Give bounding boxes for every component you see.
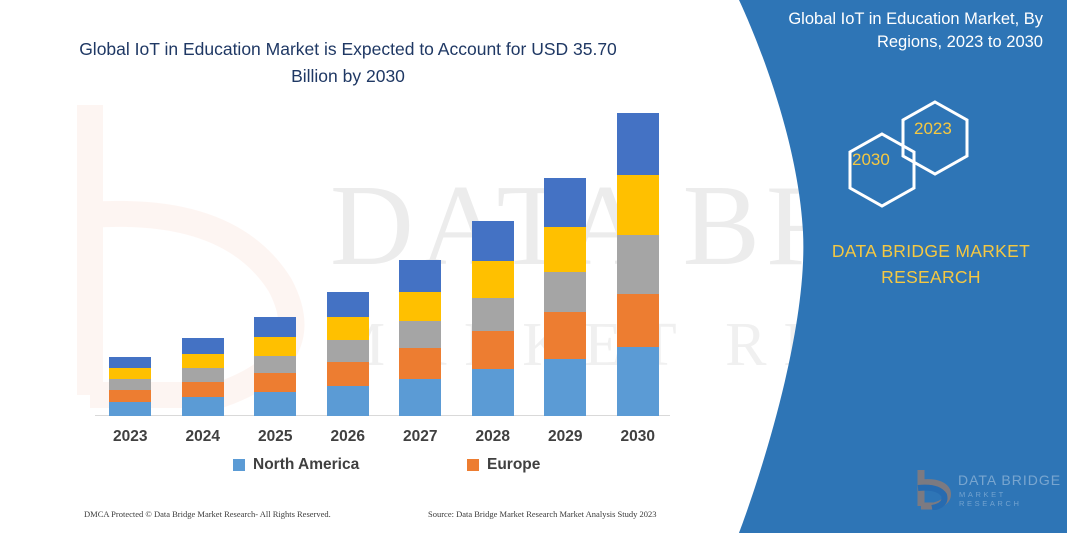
bar-segment <box>399 321 441 348</box>
legend-label: North America <box>253 456 359 474</box>
hexagon-label-end-year: 2023 <box>914 119 952 139</box>
bar-segment <box>544 227 586 271</box>
bar-segment <box>182 338 224 354</box>
bar-segment <box>182 368 224 382</box>
brand-logo: DATA BRIDGE MARKET RESEARCH <box>912 466 1062 514</box>
x-axis-label-2025: 2025 <box>240 428 310 446</box>
bar-2023 <box>109 357 151 416</box>
legend-item-north-america: North America <box>233 456 359 474</box>
legend-swatch <box>467 459 479 471</box>
bar-segment <box>399 379 441 416</box>
bar-segment <box>109 402 151 416</box>
bar-segment <box>182 354 224 368</box>
bar-segment <box>327 317 369 340</box>
brand-name: DATA BRIDGE MARKET RESEARCH <box>800 238 1062 290</box>
x-axis-label-2023: 2023 <box>95 428 165 446</box>
bar-segment <box>399 348 441 379</box>
x-axis-label-2024: 2024 <box>168 428 238 446</box>
x-axis-labels: 20232024202520262027202820292030 <box>95 428 675 454</box>
legend-label: Europe <box>487 456 540 474</box>
bar-segment <box>472 298 514 331</box>
hexagon-badges: 2023 2030 <box>820 92 990 212</box>
bar-segment <box>399 260 441 292</box>
bar-segment <box>327 340 369 361</box>
bar-2027 <box>399 260 441 416</box>
bar-segment <box>182 397 224 416</box>
infographic-canvas: DATA BRIDGE MARKET RESEARCH Global IoT i… <box>0 0 1067 533</box>
page-title: Global IoT in Education Market is Expect… <box>78 36 618 90</box>
legend-swatch <box>233 459 245 471</box>
bar-segment <box>109 368 151 379</box>
panel-title: Global IoT in Education Market, By Regio… <box>743 8 1043 54</box>
x-axis-label-2026: 2026 <box>313 428 383 446</box>
bar-segment <box>254 392 296 416</box>
footer-source: Source: Data Bridge Market Research Mark… <box>428 509 657 519</box>
bar-segment <box>327 362 369 387</box>
bar-segment <box>327 386 369 416</box>
bar-segment <box>327 292 369 318</box>
legend-item-europe: Europe <box>467 456 540 474</box>
bar-segment <box>472 369 514 416</box>
bar-segment <box>109 379 151 389</box>
bar-segment <box>109 390 151 402</box>
brand-logo-name: DATA BRIDGE <box>958 472 1061 488</box>
bar-2028 <box>472 221 514 416</box>
bar-segment <box>472 331 514 369</box>
bar-2025 <box>254 317 296 416</box>
bar-segment <box>544 272 586 313</box>
brand-b-icon <box>912 466 956 510</box>
bar-segment <box>254 356 296 373</box>
bar-2029 <box>544 178 586 416</box>
bar-segment <box>544 359 586 416</box>
footer: DMCA Protected © Data Bridge Market Rese… <box>0 506 700 528</box>
x-axis-label-2027: 2027 <box>385 428 455 446</box>
brand-logo-tagline: MARKET RESEARCH <box>959 490 1062 508</box>
bar-segment <box>399 292 441 321</box>
x-axis-label-2029: 2029 <box>530 428 600 446</box>
hexagon-label-start-year: 2030 <box>852 150 890 170</box>
chart-legend: North AmericaEurope <box>95 456 675 480</box>
bar-segment <box>472 261 514 298</box>
x-axis-label-2028: 2028 <box>458 428 528 446</box>
footer-copyright: DMCA Protected © Data Bridge Market Rese… <box>84 509 331 519</box>
hexagon-outlines-icon <box>820 92 990 212</box>
bar-segment <box>254 337 296 356</box>
bar-2024 <box>182 338 224 416</box>
bar-2026 <box>327 292 369 416</box>
bar-segment <box>182 382 224 397</box>
bar-chart-plot <box>95 110 675 416</box>
bar-segment <box>544 178 586 227</box>
bar-segment <box>109 357 151 369</box>
bar-segment <box>544 312 586 359</box>
bar-segment <box>254 373 296 393</box>
bar-segment <box>254 317 296 337</box>
bar-segment <box>472 221 514 261</box>
